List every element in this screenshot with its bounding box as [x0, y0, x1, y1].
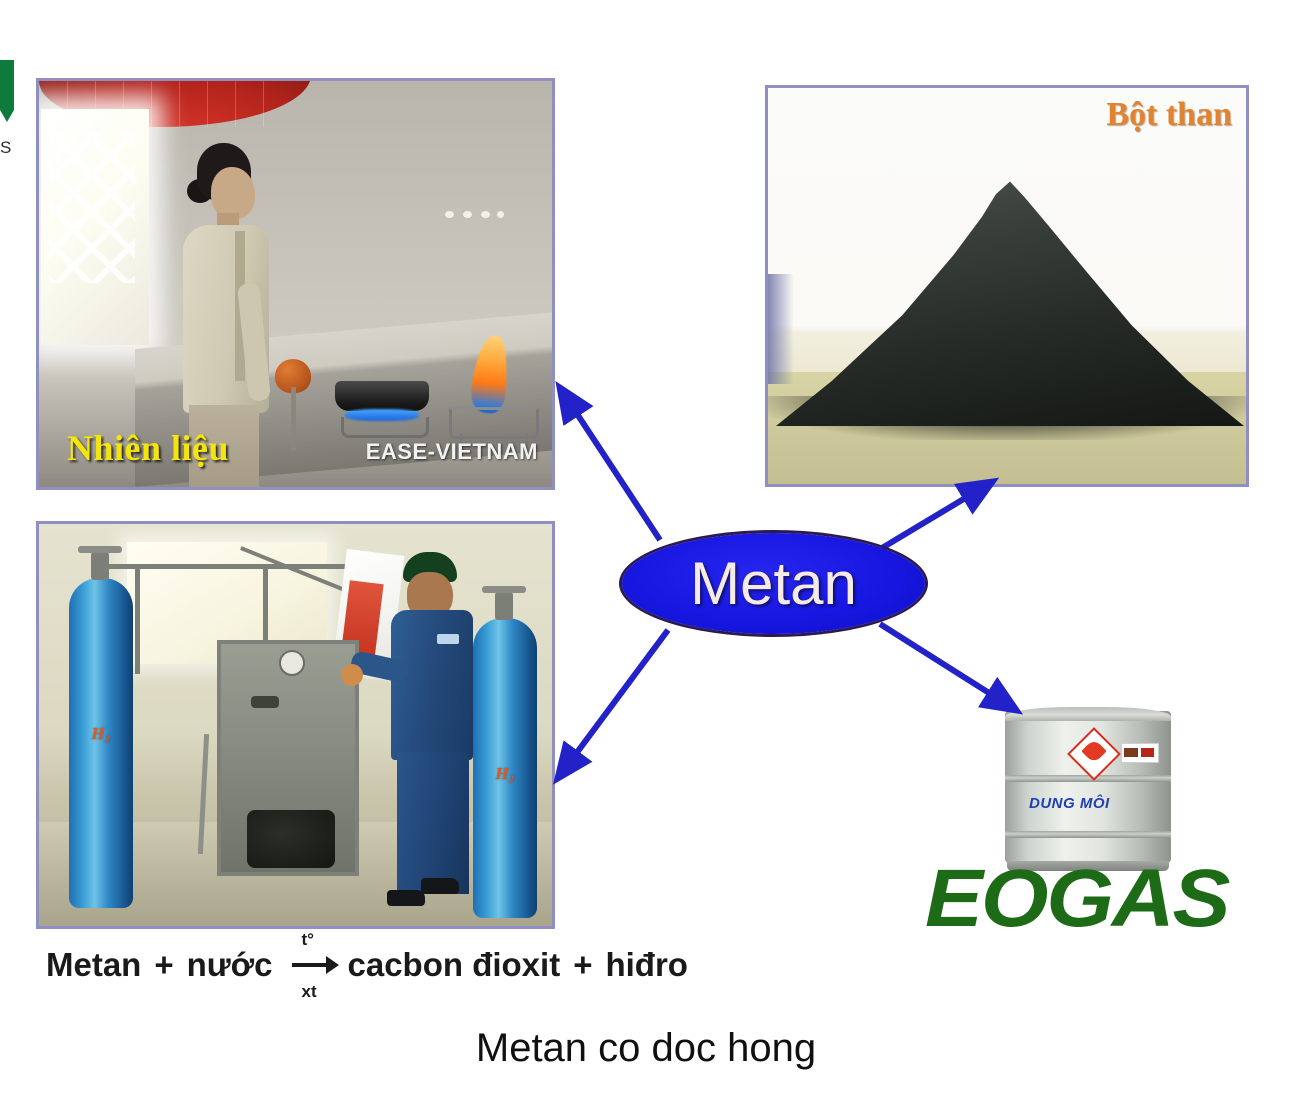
metan-label: Metan	[690, 554, 857, 614]
slide-canvas: S I A L	[0, 0, 1292, 1111]
metan-center-node[interactable]: Metan	[622, 533, 925, 634]
arrow-to-fuel	[560, 388, 660, 540]
arrow-to-hydrogen	[558, 630, 668, 778]
arrow-to-solvent	[880, 624, 1016, 710]
arrow-to-coal	[882, 482, 992, 548]
